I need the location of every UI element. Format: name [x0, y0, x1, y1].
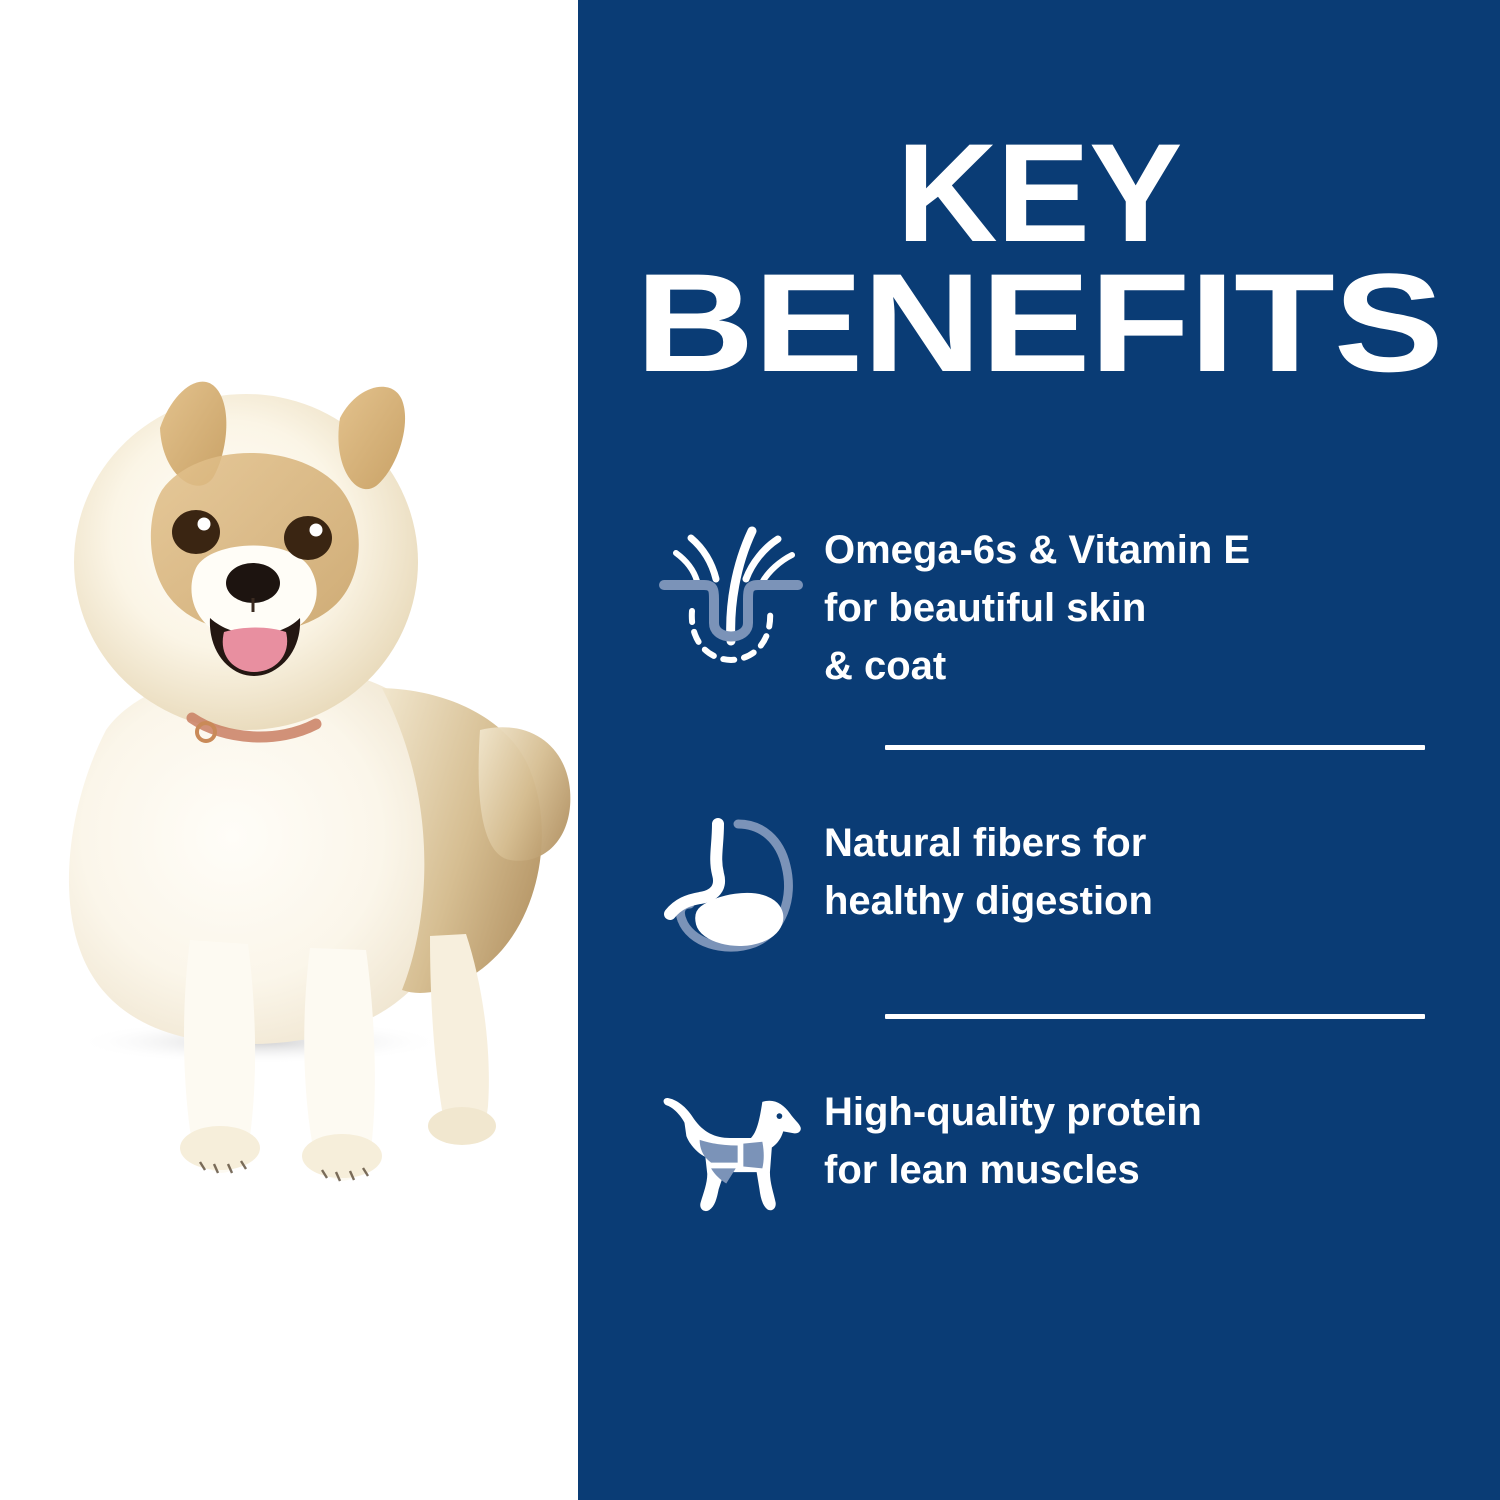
benefit-text-digestion: Natural fibers for healthy digestion	[806, 808, 1384, 930]
stomach-icon	[656, 808, 806, 958]
benefit-text-protein: High-quality protein for lean muscles	[806, 1077, 1384, 1199]
benefit-text-skin-coat: Omega-6s & Vitamin E for beautiful skin …	[806, 515, 1384, 695]
title-line-2: BENEFITS	[495, 258, 1500, 388]
benefit-item-digestion: Natural fibers for healthy digestion	[578, 808, 1500, 958]
dog-photo	[10, 300, 590, 1300]
dog-photo-pane	[0, 0, 578, 1500]
title-line-1: KEY	[578, 128, 1500, 258]
dog-muscle-icon	[656, 1077, 806, 1227]
page-title: KEY BENEFITS	[578, 128, 1500, 388]
benefit-item-skin-coat: Omega-6s & Vitamin E for beautiful skin …	[578, 515, 1500, 695]
benefit-item-protein: High-quality protein for lean muscles	[578, 1077, 1500, 1227]
hair-follicle-icon	[656, 515, 806, 665]
key-benefits-page: KEY BENEFITS	[0, 0, 1500, 1500]
benefits-list: Omega-6s & Vitamin E for beautiful skin …	[578, 515, 1500, 1227]
